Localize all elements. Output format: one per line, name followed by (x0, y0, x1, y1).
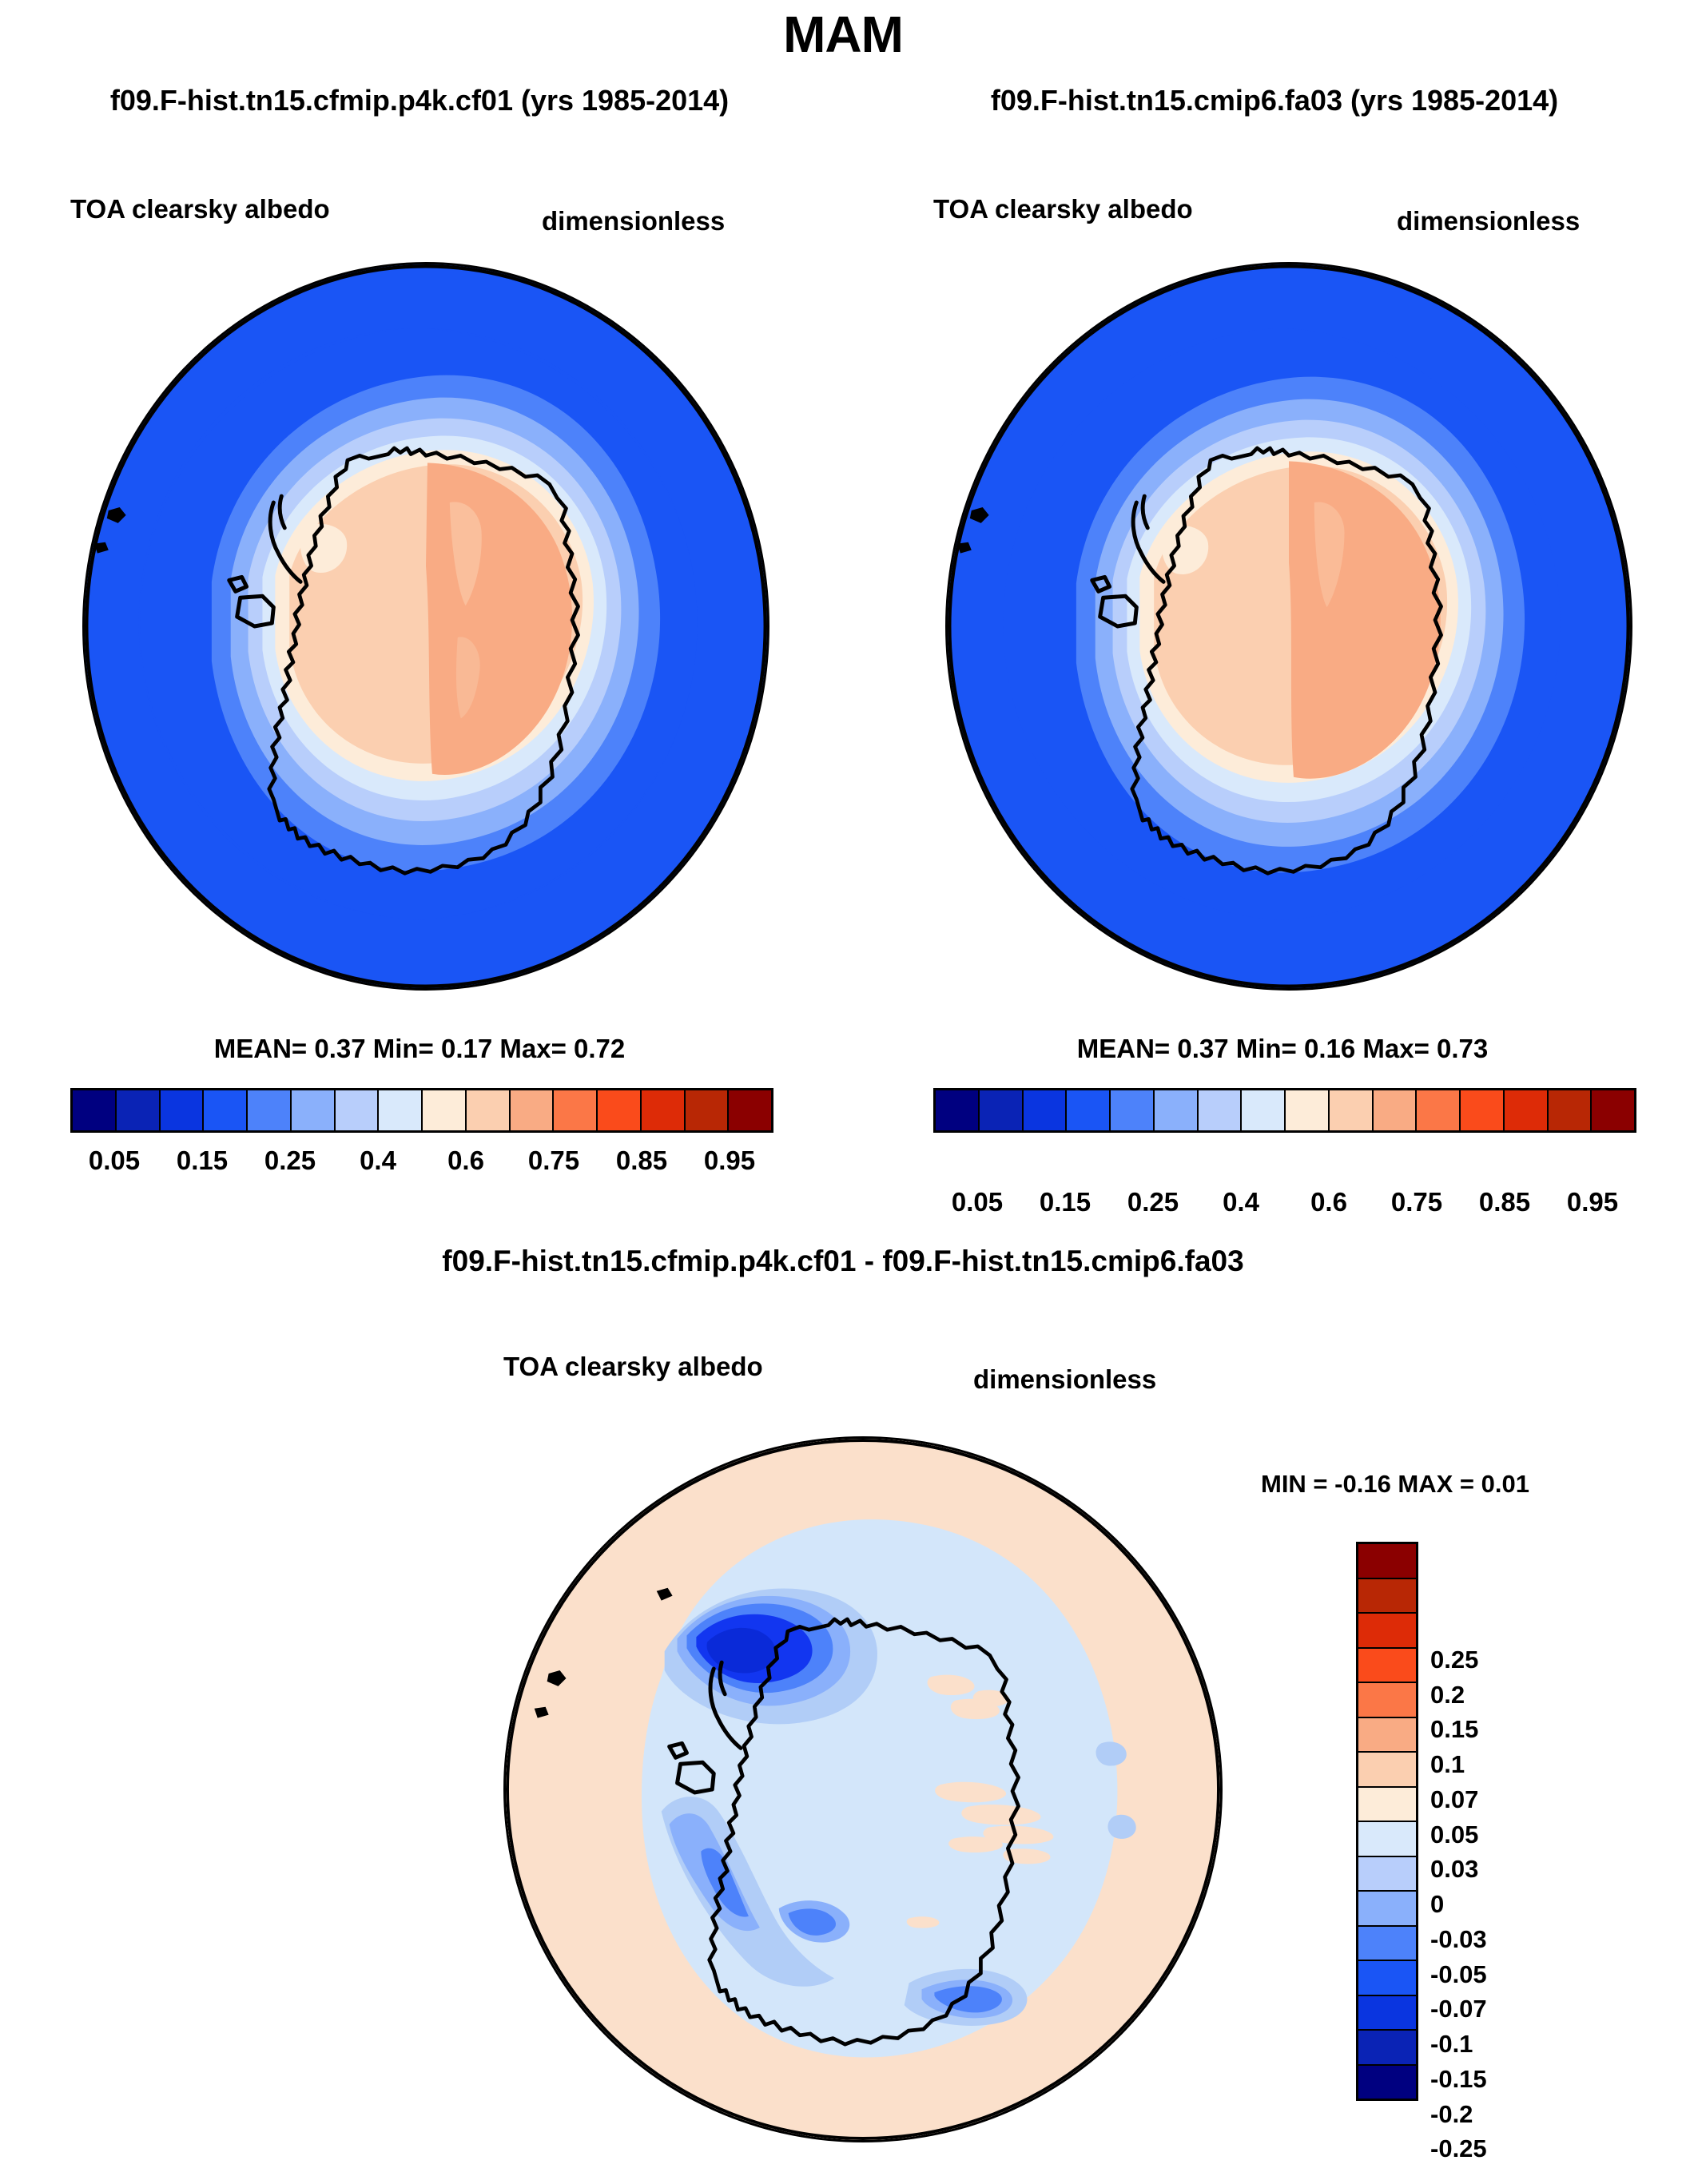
colorbar-tick-label: 0.4 (1223, 1187, 1259, 1217)
colorbar-tick-label: 0.05 (952, 1187, 1003, 1217)
units-label-right: dimensionless (1397, 206, 1580, 236)
variable-label-right: TOA clearsky albedo (933, 194, 1193, 224)
colorbar-cell[interactable] (554, 1090, 598, 1130)
colorbar-cell[interactable] (1358, 1579, 1416, 1614)
colorbar-tick-label: 0.2 (1430, 1681, 1465, 1709)
colorbar-tick-label: -0.05 (1430, 1960, 1487, 1989)
colorbar-cell[interactable] (161, 1090, 205, 1130)
colorbar-tick-label: 0.15 (1040, 1187, 1091, 1217)
colorbar-tick-label: -0.1 (1430, 2030, 1473, 2059)
colorbar-cell[interactable] (729, 1090, 771, 1130)
colorbar-cell[interactable] (73, 1090, 117, 1130)
colorbar-tick-label: 0.15 (177, 1146, 228, 1176)
colorbar-ticks-right: 0.050.150.250.40.60.750.850.95 (933, 1182, 1636, 1224)
antarctic-map-difference (506, 1439, 1220, 2140)
colorbar-cell[interactable] (1358, 1649, 1416, 1684)
colorbar-tick-label: 0.95 (704, 1146, 755, 1176)
colorbar-cell[interactable] (248, 1090, 292, 1130)
colorbar-ticks-difference: 0.250.20.150.10.070.050.030-0.03-0.05-0.… (1430, 1625, 1606, 2184)
case-title-left: f09.F-hist.tn15.cfmip.p4k.cf01 (yrs 1985… (8, 84, 831, 117)
colorbar-tick-label: 0.1 (1430, 1750, 1465, 1779)
colorbar-tick-label: 0.75 (528, 1146, 579, 1176)
season-title: MAM (0, 5, 1686, 64)
colorbar-cell[interactable] (1067, 1090, 1111, 1130)
colorbar-tick-label: 0.85 (1479, 1187, 1530, 1217)
colorbar-tick-label: 0.25 (264, 1146, 316, 1176)
colorbar-cell[interactable] (1549, 1090, 1593, 1130)
colorbar-cell[interactable] (467, 1090, 511, 1130)
variable-label-diff: TOA clearsky albedo (503, 1352, 763, 1382)
colorbar-cell[interactable] (1417, 1090, 1461, 1130)
colorbar-cell[interactable] (1199, 1090, 1243, 1130)
colorbar-cell[interactable] (1505, 1090, 1549, 1130)
map-panel-left[interactable] (82, 262, 769, 991)
colorbar-tick-label: 0.25 (1127, 1187, 1179, 1217)
colorbar-tick-label: -0.07 (1430, 1995, 1487, 2023)
colorbar-tick-label: 0.25 (1430, 1646, 1478, 1674)
colorbar-cell[interactable] (423, 1090, 467, 1130)
colorbar-cell[interactable] (117, 1090, 161, 1130)
colorbar-cell[interactable] (1461, 1090, 1505, 1130)
colorbar-tick-label: 0.75 (1391, 1187, 1442, 1217)
colorbar-tick-label: 0.4 (360, 1146, 396, 1176)
colorbar-tick-label: 0.6 (1310, 1187, 1347, 1217)
colorbar-cell[interactable] (686, 1090, 730, 1130)
colorbar-cell[interactable] (1024, 1090, 1068, 1130)
colorbar-cell[interactable] (1358, 1996, 1416, 2031)
colorbar-cell[interactable] (1358, 1822, 1416, 1857)
colorbar-cell[interactable] (1358, 1753, 1416, 1788)
colorbar-cell[interactable] (1358, 2031, 1416, 2066)
colorbar-cell[interactable] (1242, 1090, 1286, 1130)
colorbar-vertical-difference[interactable] (1356, 1542, 1418, 2101)
colorbar-tick-label: 0.95 (1567, 1187, 1618, 1217)
colorbar-cell[interactable] (1358, 1614, 1416, 1649)
colorbar-cell[interactable] (511, 1090, 555, 1130)
colorbar-cell[interactable] (1330, 1090, 1374, 1130)
stats-left: MEAN= 0.37 Min= 0.17 Max= 0.72 (68, 1034, 771, 1064)
difference-minmax: MIN = -0.16 MAX = 0.01 (1261, 1470, 1529, 1499)
colorbar-tick-label: 0.05 (89, 1146, 140, 1176)
colorbar-tick-label: 0 (1430, 1890, 1444, 1919)
map-panel-difference[interactable] (503, 1436, 1223, 2142)
colorbar-horizontal-right[interactable] (933, 1088, 1636, 1133)
colorbar-tick-label: -0.25 (1430, 2134, 1487, 2163)
map-panel-right[interactable] (945, 262, 1632, 991)
colorbar-tick-label: -0.03 (1430, 1925, 1487, 1954)
colorbar-cell[interactable] (1358, 1857, 1416, 1892)
colorbar-cell[interactable] (292, 1090, 336, 1130)
colorbar-cell[interactable] (1111, 1090, 1155, 1130)
colorbar-tick-label: -0.15 (1430, 2065, 1487, 2094)
case-title-right: f09.F-hist.tn15.cmip6.fa03 (yrs 1985-201… (863, 84, 1686, 117)
difference-title: f09.F-hist.tn15.cfmip.p4k.cf01 - f09.F-h… (0, 1245, 1686, 1278)
colorbar-cell[interactable] (1358, 1544, 1416, 1579)
colorbar-tick-label: 0.07 (1430, 1785, 1478, 1814)
colorbar-cell[interactable] (1358, 1683, 1416, 1718)
colorbar-cell[interactable] (936, 1090, 980, 1130)
colorbar-cell[interactable] (1592, 1090, 1634, 1130)
colorbar-tick-label: 0.05 (1430, 1821, 1478, 1849)
colorbar-cell[interactable] (980, 1090, 1024, 1130)
colorbar-tick-label: -0.2 (1430, 2100, 1473, 2129)
colorbar-horizontal-left[interactable] (70, 1088, 773, 1133)
colorbar-cell[interactable] (379, 1090, 423, 1130)
colorbar-cell[interactable] (1358, 1927, 1416, 1962)
stats-right: MEAN= 0.37 Min= 0.16 Max= 0.73 (931, 1034, 1634, 1064)
colorbar-cell[interactable] (1374, 1090, 1418, 1130)
antarctic-map-right (948, 264, 1630, 988)
antarctic-map-left (85, 264, 767, 988)
colorbar-cell[interactable] (1155, 1090, 1199, 1130)
colorbar-cell[interactable] (336, 1090, 380, 1130)
colorbar-cell[interactable] (204, 1090, 248, 1130)
colorbar-cell[interactable] (1358, 2066, 1416, 2099)
colorbar-tick-label: 0.85 (616, 1146, 667, 1176)
variable-label-left: TOA clearsky albedo (70, 194, 330, 224)
colorbar-cell[interactable] (598, 1090, 642, 1130)
colorbar-cell[interactable] (1286, 1090, 1330, 1130)
colorbar-cell[interactable] (1358, 1718, 1416, 1753)
colorbar-tick-label: 0.03 (1430, 1855, 1478, 1884)
colorbar-cell[interactable] (642, 1090, 686, 1130)
colorbar-cell[interactable] (1358, 1788, 1416, 1823)
units-label-diff: dimensionless (973, 1364, 1156, 1395)
colorbar-cell[interactable] (1358, 1892, 1416, 1927)
colorbar-tick-label: 0.15 (1430, 1715, 1478, 1744)
colorbar-ticks-left: 0.050.150.250.40.60.750.850.95 (70, 1141, 773, 1182)
colorbar-cell[interactable] (1358, 1961, 1416, 1996)
colorbar-tick-label: 0.6 (447, 1146, 484, 1176)
units-label-left: dimensionless (542, 206, 725, 236)
